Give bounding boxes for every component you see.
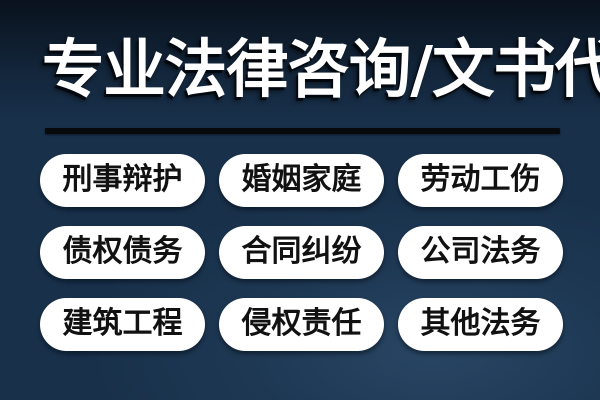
service-pill-contract-disputes[interactable]: 合同纠纷: [219, 226, 384, 279]
service-pill-labor-injury[interactable]: 劳动工伤: [398, 154, 563, 207]
service-category-grid: 刑事辩护 婚姻家庭 劳动工伤 债权债务 合同纠纷 公司法务: [40, 154, 562, 351]
service-pill-marriage-family[interactable]: 婚姻家庭: [219, 154, 384, 207]
service-pill-label: 婚姻家庭: [242, 165, 362, 195]
service-pill-label: 公司法务: [421, 237, 541, 267]
promo-banner: 专业法律咨询/文书代写 刑事辩护 婚姻家庭 劳动工伤 债权债务 合同: [0, 0, 600, 400]
service-pill-label: 侵权责任: [242, 309, 362, 339]
service-pill-label: 劳动工伤: [421, 165, 541, 195]
service-row: 债权债务 合同纠纷 公司法务: [40, 226, 562, 279]
service-pill-other-legal[interactable]: 其他法务: [398, 298, 563, 351]
service-pill-label: 合同纠纷: [242, 237, 362, 267]
banner-content-layer: 专业法律咨询/文书代写 刑事辩护 婚姻家庭 劳动工伤 债权债务 合同: [0, 0, 600, 400]
service-pill-tort-liability[interactable]: 侵权责任: [219, 298, 384, 351]
service-pill-corporate-legal[interactable]: 公司法务: [398, 226, 563, 279]
service-row: 建筑工程 侵权责任 其他法务: [40, 298, 562, 351]
service-pill-label: 债权债务: [63, 237, 183, 267]
service-pill-label: 建筑工程: [63, 309, 183, 339]
service-pill-construction-engineering[interactable]: 建筑工程: [40, 298, 205, 351]
service-row: 刑事辩护 婚姻家庭 劳动工伤: [40, 154, 562, 207]
service-pill-debt-claims[interactable]: 债权债务: [40, 226, 205, 279]
service-pill-criminal-defense[interactable]: 刑事辩护: [40, 154, 205, 207]
page-title: 专业法律咨询/文书代写: [42, 27, 557, 111]
title-divider: [45, 128, 560, 134]
service-pill-label: 刑事辩护: [63, 165, 183, 195]
service-pill-label: 其他法务: [421, 309, 541, 339]
